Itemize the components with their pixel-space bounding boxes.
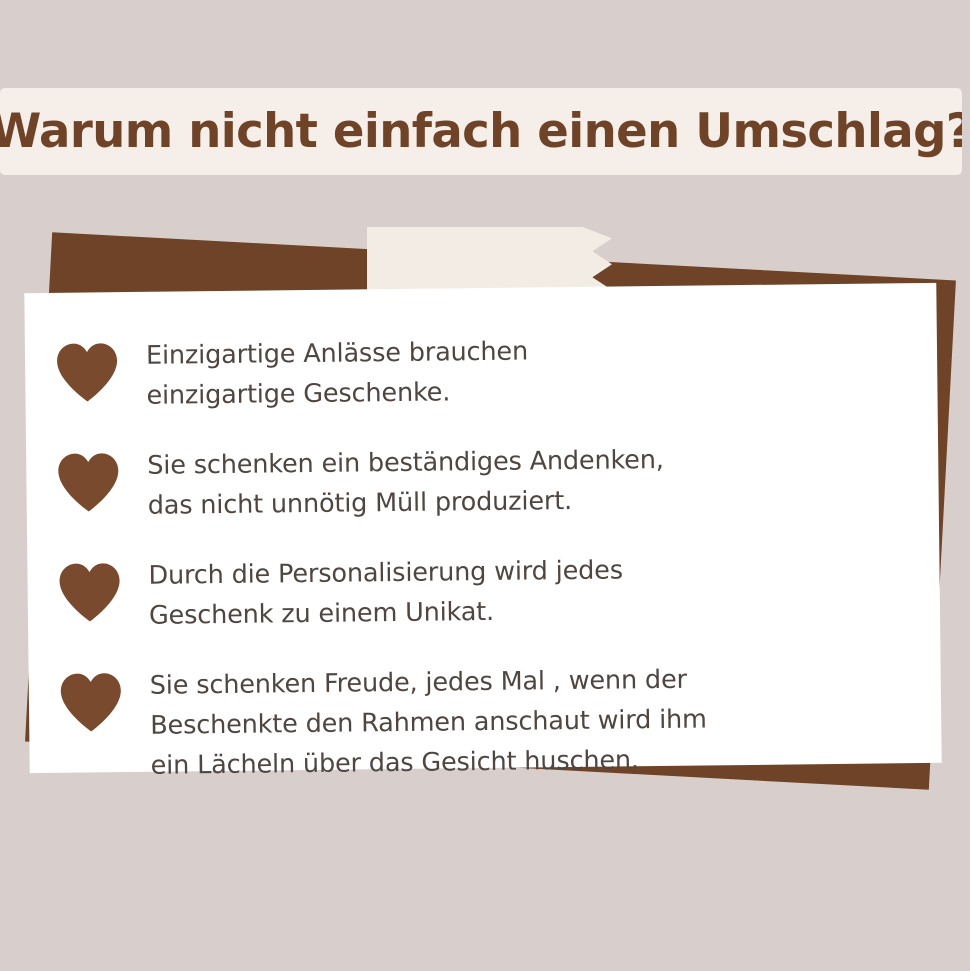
list-item-label: Sie schenken Freude, jedes Mal , wenn de… — [123, 657, 942, 786]
list-item: Einzigartige Anlässe brauchen einzigarti… — [25, 327, 938, 417]
list-item: Sie schenken ein beständiges Andenken, d… — [26, 437, 939, 527]
list-item-label: Einzigartige Anlässe brauchen einzigarti… — [119, 327, 938, 416]
card-inner: Einzigartige Anlässe brauchen einzigarti… — [24, 283, 941, 773]
list-item-label: Sie schenken ein beständiges Andenken, d… — [120, 437, 939, 526]
heart-icon — [29, 666, 124, 733]
content-card: Einzigartige Anlässe brauchen einzigarti… — [24, 283, 941, 773]
list-item: Sie schenken Freude, jedes Mal , wenn de… — [29, 657, 942, 787]
list-item-label: Durch die Personalisierung wird jedes Ge… — [121, 547, 940, 636]
list-item: Durch die Personalisierung wird jedes Ge… — [27, 547, 940, 637]
heart-icon — [27, 556, 122, 623]
page-title: Warum nicht einfach einen Umschlag? — [0, 108, 962, 155]
heart-icon — [26, 446, 121, 513]
heart-icon — [25, 336, 120, 403]
benefits-list: Einzigartige Anlässe brauchen einzigarti… — [25, 327, 942, 787]
headline-banner: Warum nicht einfach einen Umschlag? — [0, 88, 962, 175]
